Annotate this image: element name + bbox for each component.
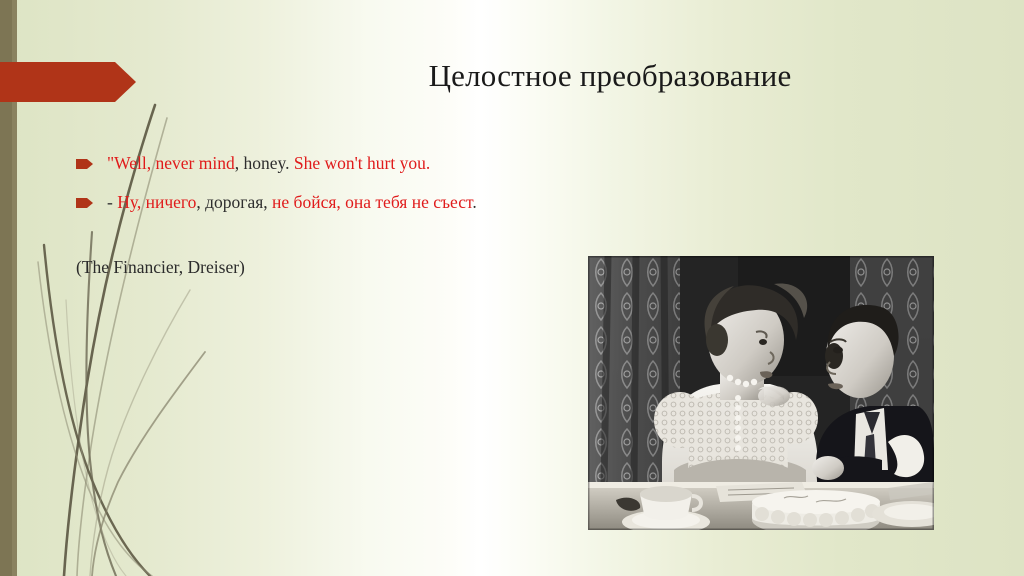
bullet-2-segment-2: Ну, ничего xyxy=(117,192,196,212)
source-attribution: (The Financier, Dreiser) xyxy=(76,257,245,278)
red-arrow-bullet-icon xyxy=(76,198,93,208)
bullet-1-segment-2: , honey. xyxy=(235,153,294,173)
bullet-2-segment-4: не бойся, она тебя не съест xyxy=(272,192,472,212)
arrow-banner-shape xyxy=(0,62,136,102)
bullet-list: "Well, never mind, honey. She won't hurt… xyxy=(76,152,596,230)
bullet-1-segment-1: "Well, never mind xyxy=(107,153,235,173)
bullet-item: - Ну, ничего, дорогая, не бойся, она теб… xyxy=(76,191,596,221)
bullet-2-segment-1: - xyxy=(107,192,117,212)
red-arrow-bullet-icon xyxy=(76,159,93,169)
bullet-item: "Well, never mind, honey. She won't hurt… xyxy=(76,152,596,182)
presentation-slide: Целостное преобразование "Well, never mi… xyxy=(0,0,1024,576)
bullet-2-segment-3: , дорогая, xyxy=(196,192,272,212)
slide-title: Целостное преобразование xyxy=(300,58,920,94)
bullet-2-segment-5: . xyxy=(472,192,476,212)
film-still-illustration xyxy=(588,256,934,530)
bullet-text: - Ну, ничего, дорогая, не бойся, она теб… xyxy=(107,191,596,213)
bullet-1-segment-3: She won't hurt you. xyxy=(294,153,430,173)
bullet-text: "Well, never mind, honey. She won't hurt… xyxy=(107,152,596,174)
film-still-photo xyxy=(588,256,934,530)
